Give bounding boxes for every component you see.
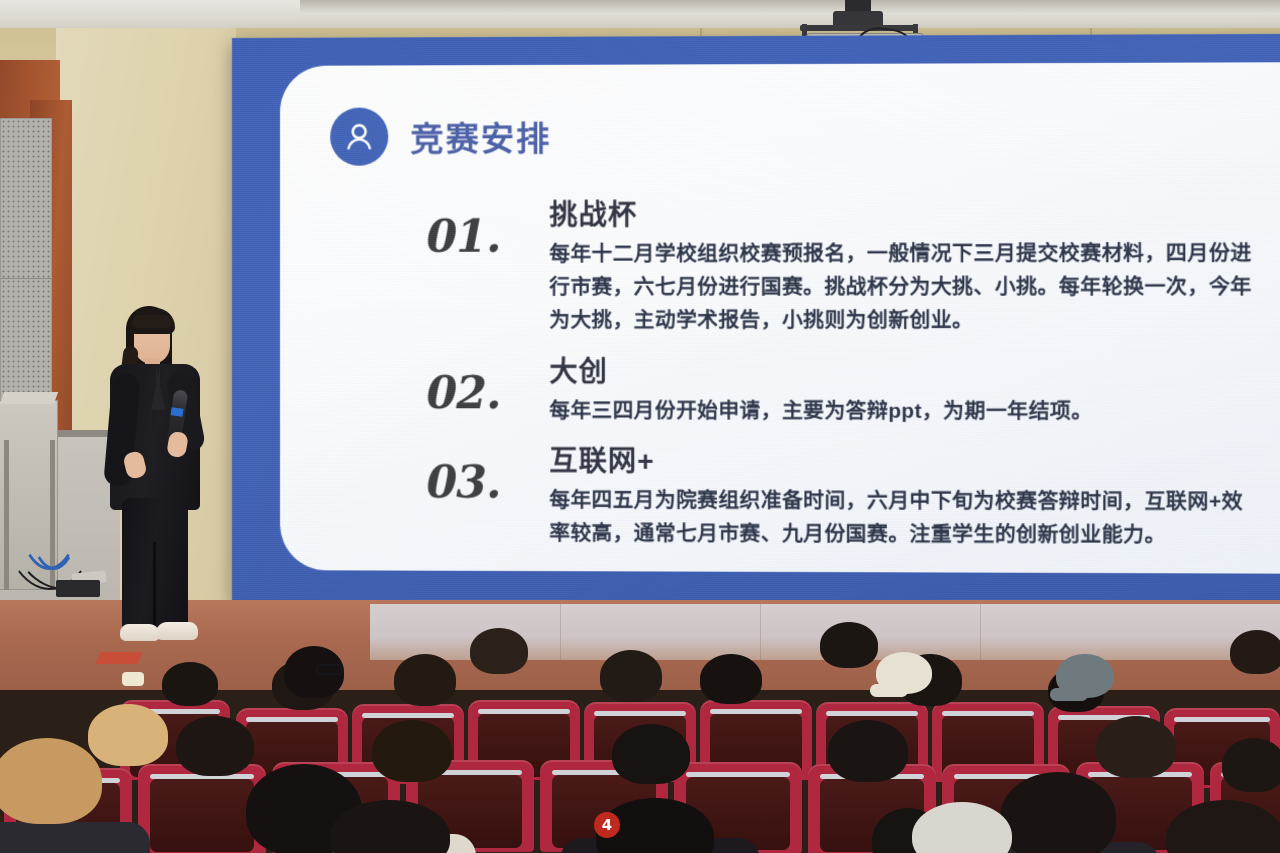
slide-section: 03. 互联网+ 每年四五月为院赛组织准备时间，六月中下旬为校赛答辩时间，互联网… bbox=[426, 439, 1280, 553]
section-heading: 挑战杯 bbox=[549, 192, 1280, 234]
eyeglasses bbox=[316, 664, 342, 675]
paragraph-line: 每年四五月为院赛组织准备时间，六月中下旬为校赛答辩时间，互联网+效 bbox=[549, 484, 1280, 519]
presenter-fringe bbox=[132, 315, 172, 328]
audience-head bbox=[828, 720, 908, 782]
equipment-rack-top bbox=[0, 392, 58, 404]
audience-head bbox=[1096, 716, 1176, 778]
led-screen: 竞赛安排 01. 挑战杯 每年十二月学校组织校赛预报名，一般情况下三月提交校赛材… bbox=[232, 34, 1280, 608]
slide-header: 竞赛安排 bbox=[330, 107, 551, 166]
section-heading: 大创 bbox=[549, 350, 1280, 391]
paragraph-line: 每年十二月学校组织校赛预报名，一般情况下三月提交校赛材料，四月份进 bbox=[549, 237, 1280, 271]
section-number: 03. bbox=[426, 439, 523, 508]
acoustic-panel bbox=[0, 118, 52, 438]
audience-head bbox=[1230, 630, 1280, 674]
audience-head bbox=[1000, 772, 1116, 853]
audience-head bbox=[600, 650, 662, 702]
audience-head bbox=[470, 628, 528, 674]
audience-head bbox=[176, 716, 254, 776]
audience-head bbox=[394, 654, 456, 706]
audience-head bbox=[88, 704, 168, 766]
audience-head bbox=[162, 662, 218, 706]
section-paragraph: 每年十二月学校组织校赛预报名，一般情况下三月提交校赛材料，四月份进 行市赛，六七… bbox=[549, 237, 1280, 338]
ceiling-rail bbox=[300, 0, 1280, 14]
audience-shoulders bbox=[0, 822, 150, 853]
presenter bbox=[96, 302, 216, 662]
section-paragraph: 每年三四月份开始申请，主要为答辩ppt，为期一年结项。 bbox=[549, 394, 1280, 428]
microphone-band bbox=[171, 407, 184, 417]
audience-area: 4 bbox=[0, 612, 1280, 853]
paragraph-line: 每年三四月份开始申请，主要为答辩ppt，为期一年结项。 bbox=[549, 394, 1280, 428]
slide-sections: 01. 挑战杯 每年十二月学校组织校赛预报名，一般情况下三月提交校赛材料，四月份… bbox=[426, 192, 1280, 565]
audience-head bbox=[820, 622, 878, 668]
slide-title: 竞赛安排 bbox=[410, 112, 551, 161]
slide-section: 01. 挑战杯 每年十二月学校组织校赛预报名，一般情况下三月提交校赛材料，四月份… bbox=[426, 192, 1280, 338]
baseball-cap bbox=[876, 652, 932, 694]
baseball-cap bbox=[1056, 654, 1114, 698]
audience-head bbox=[372, 720, 452, 782]
hair-clip bbox=[122, 672, 144, 686]
person-avatar-icon bbox=[330, 108, 388, 166]
paragraph-line: 为大挑，主动学术报告，小挑则为创新创业。 bbox=[549, 304, 1280, 338]
paragraph-line: 行市赛，六七月份进行国赛。挑战杯分为大挑、小挑。每年轮换一次，今年 bbox=[549, 270, 1280, 304]
audience-head bbox=[1222, 738, 1280, 792]
section-number: 02. bbox=[426, 350, 523, 419]
floor-power-brick bbox=[56, 580, 100, 597]
audience-head bbox=[612, 724, 690, 784]
section-heading: 互联网+ bbox=[549, 439, 1280, 481]
section-paragraph: 每年四五月为院赛组织准备时间，六月中下旬为校赛答辩时间，互联网+效 率较高，通常… bbox=[549, 484, 1280, 553]
audience-head bbox=[0, 738, 102, 824]
paragraph-line: 率较高，通常七月市赛、九月份国赛。注重学生的创新创业能力。 bbox=[549, 517, 1280, 553]
seat-number-badge: 4 bbox=[594, 812, 620, 838]
slide-section: 02. 大创 每年三四月份开始申请，主要为答辩ppt，为期一年结项。 bbox=[426, 350, 1280, 429]
section-number: 01. bbox=[426, 193, 523, 262]
slide-card: 竞赛安排 01. 挑战杯 每年十二月学校组织校赛预报名，一般情况下三月提交校赛材… bbox=[280, 62, 1280, 574]
audience-head bbox=[700, 654, 762, 704]
lecture-hall-scene: 竞赛安排 01. 挑战杯 每年十二月学校组织校赛预报名，一般情况下三月提交校赛材… bbox=[0, 0, 1280, 853]
